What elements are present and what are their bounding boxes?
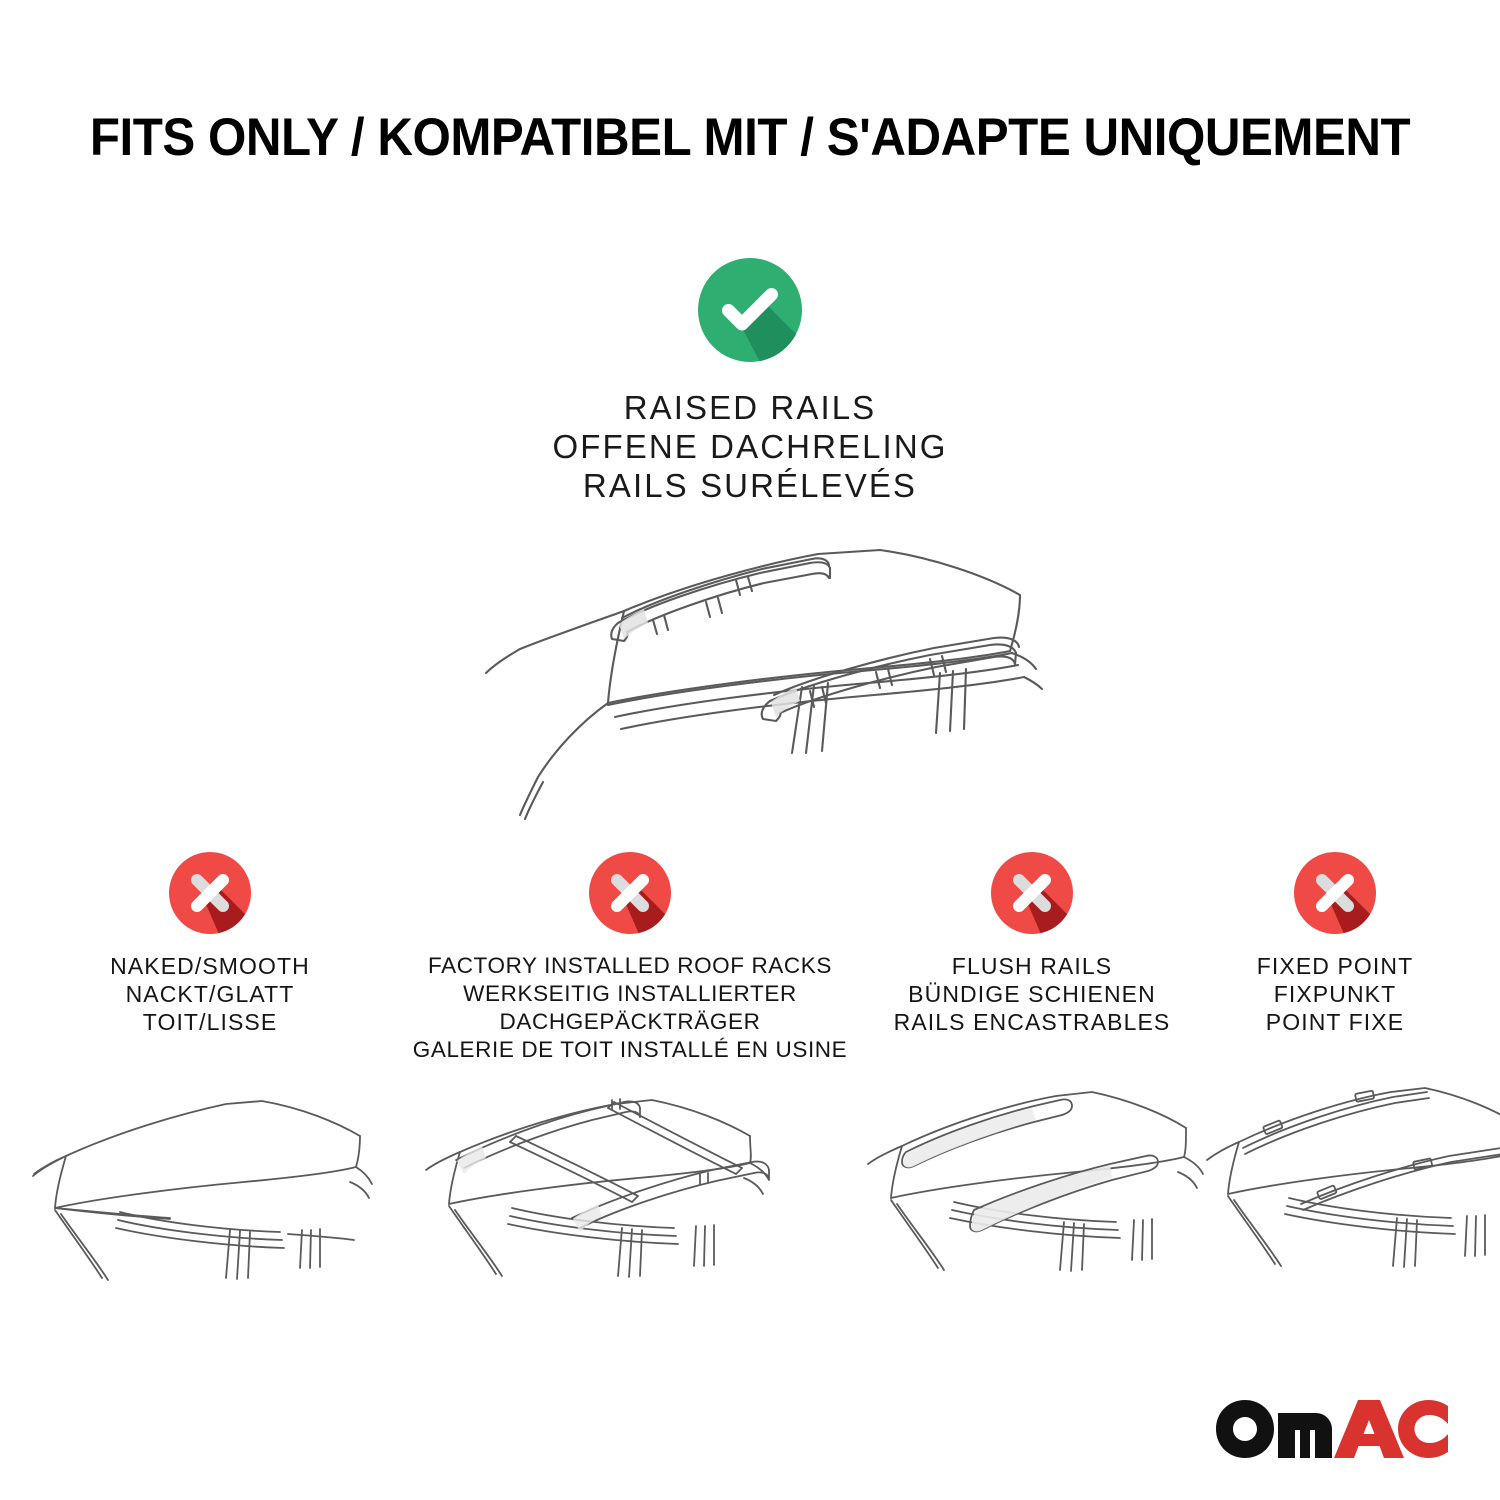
x-circle-icon xyxy=(991,852,1073,934)
incompatible-column-factory-rack: FACTORY INSTALLED ROOF RACKS WERKSEITIG … xyxy=(400,852,860,1308)
x-mark-glyph xyxy=(589,852,671,934)
car-roof-fixed-point-illustration xyxy=(1205,1070,1465,1300)
omac-logo xyxy=(1212,1396,1452,1458)
incompatible-column-naked-smooth: NAKED/SMOOTH NACKT/GLATT TOIT/LISSE xyxy=(30,852,390,1300)
car-roof-flush-rails-illustration xyxy=(862,1070,1202,1300)
car-roof-naked-smooth-illustration xyxy=(30,1070,390,1300)
compatible-label-fr: RAILS SURÉLEVÉS xyxy=(552,466,947,505)
omac-logo-mark xyxy=(1212,1396,1452,1458)
compatible-label-de: OFFENE DACHRELING xyxy=(552,427,947,466)
logo-letter-o xyxy=(1216,1400,1274,1458)
incompatible-column-flush-rails: FLUSH RAILS BÜNDIGE SCHIENEN RAILS ENCAS… xyxy=(862,852,1202,1300)
check-circle-icon xyxy=(698,258,802,362)
car-roof-raised-rails-illustration xyxy=(410,505,1100,835)
logo-letter-m xyxy=(1278,1413,1332,1458)
compatible-labels: RAISED RAILS OFFENE DACHRELING RAILS SUR… xyxy=(552,388,947,505)
label-line-de: BÜNDIGE SCHIENEN xyxy=(894,980,1171,1008)
incompatible-labels-flush-rails: FLUSH RAILS BÜNDIGE SCHIENEN RAILS ENCAS… xyxy=(894,952,1171,1036)
x-mark-glyph xyxy=(991,852,1073,934)
label-line-de: NACKT/GLATT xyxy=(110,980,310,1008)
label-line-en: FIXED POINT xyxy=(1257,952,1414,980)
incompatible-labels-naked-smooth: NAKED/SMOOTH NACKT/GLATT TOIT/LISSE xyxy=(110,952,310,1036)
x-mark-glyph xyxy=(1294,852,1376,934)
logo-letter-a xyxy=(1334,1400,1404,1458)
check-mark-glyph xyxy=(698,258,802,362)
label-line-en: FLUSH RAILS xyxy=(894,952,1171,980)
fitment-guide-page: FITS ONLY / KOMPATIBEL MIT / S'ADAPTE UN… xyxy=(0,0,1500,1500)
x-circle-icon xyxy=(589,852,671,934)
x-mark-glyph xyxy=(169,852,251,934)
car-roof-factory-roof-rack-illustration xyxy=(400,1078,860,1308)
label-line-en: FACTORY INSTALLED ROOF RACKS xyxy=(413,952,848,980)
logo-letter-c xyxy=(1398,1400,1448,1458)
label-line-fr: POINT FIXE xyxy=(1257,1008,1414,1036)
label-line-fr: TOIT/LISSE xyxy=(110,1008,310,1036)
incompatible-column-fixed-point: FIXED POINT FIXPUNKT POINT FIXE xyxy=(1205,852,1465,1300)
label-line-de-1: WERKSEITIG INSTALLIERTER xyxy=(413,980,848,1008)
label-line-fr: RAILS ENCASTRABLES xyxy=(894,1008,1171,1036)
label-line-de-2: DACHGEPÄCKTRÄGER xyxy=(413,1008,848,1036)
incompatible-labels-fixed-point: FIXED POINT FIXPUNKT POINT FIXE xyxy=(1257,952,1414,1036)
compatible-section: RAISED RAILS OFFENE DACHRELING RAILS SUR… xyxy=(0,258,1500,505)
page-title: FITS ONLY / KOMPATIBEL MIT / S'ADAPTE UN… xyxy=(53,108,1448,168)
compatible-label-en: RAISED RAILS xyxy=(552,388,947,427)
x-circle-icon xyxy=(1294,852,1376,934)
incompatible-labels-factory-rack: FACTORY INSTALLED ROOF RACKS WERKSEITIG … xyxy=(413,952,848,1064)
x-circle-icon xyxy=(169,852,251,934)
label-line-en: NAKED/SMOOTH xyxy=(110,952,310,980)
label-line-de: FIXPUNKT xyxy=(1257,980,1414,1008)
label-line-fr: GALERIE DE TOIT INSTALLÉ EN USINE xyxy=(413,1036,848,1064)
